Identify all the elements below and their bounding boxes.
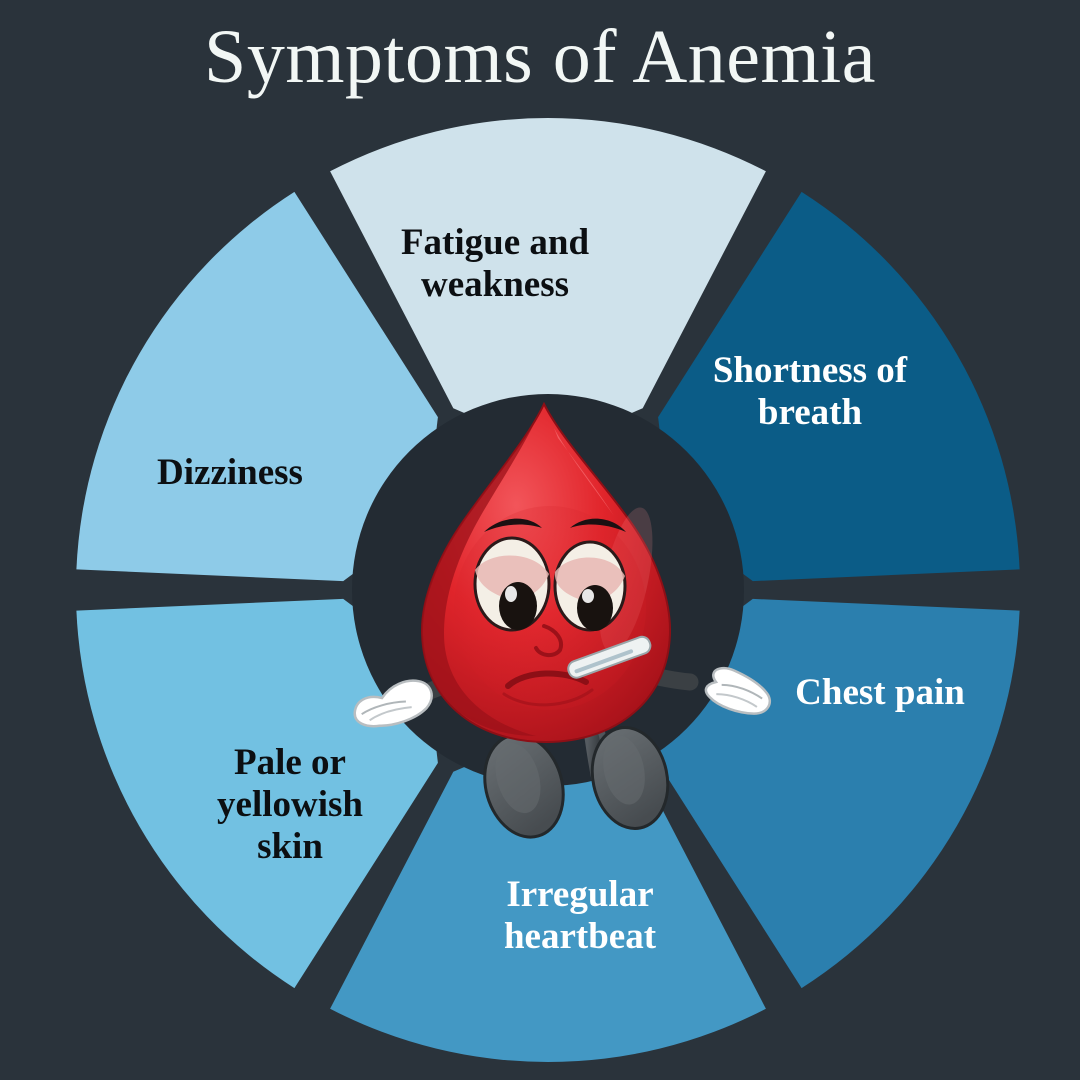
left-pupil [499,582,537,630]
infographic-canvas: Symptoms of Anemia [0,0,1080,1080]
right-eye-glint [582,589,594,603]
symptom-wheel [0,0,1080,1080]
left-eye-glint [505,586,517,602]
right-pupil [577,585,613,631]
